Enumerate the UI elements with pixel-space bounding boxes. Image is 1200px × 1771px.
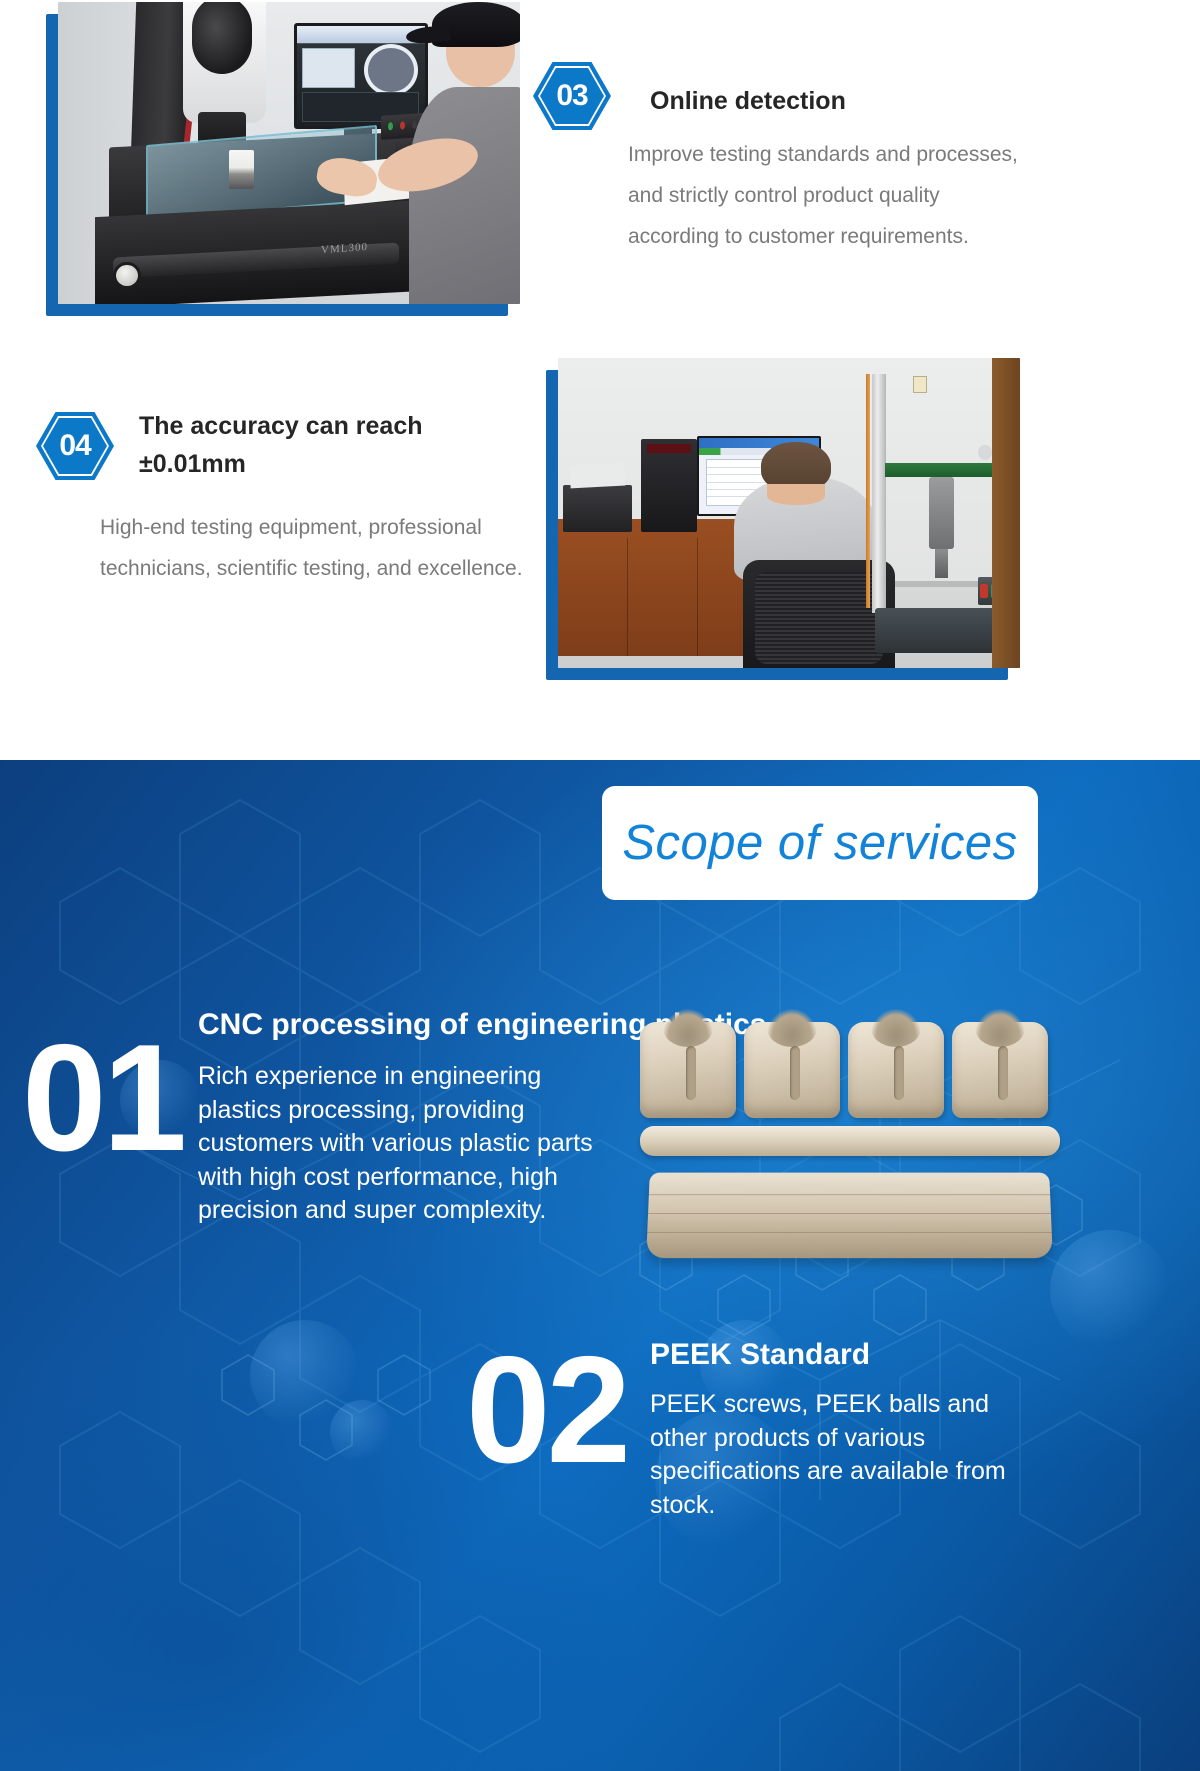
service-heading-02: PEEK Standard: [650, 1338, 1080, 1372]
door: [992, 358, 1020, 668]
peek-chain-link-photo: [640, 1022, 1060, 1272]
online-detection-body: Improve testing standards and processes,…: [628, 135, 1028, 258]
badge-number: 03: [533, 62, 611, 130]
service-number-02: 02: [466, 1334, 627, 1486]
scope-title-card: Scope of services: [602, 786, 1038, 900]
service-body-01: Rich experience in engineering plastics …: [198, 1060, 628, 1228]
measured-part: [229, 150, 254, 189]
features-section: VML300 03 Online detection Improve testi…: [0, 0, 1200, 760]
accuracy-photo: [546, 370, 1008, 680]
online-detection-photo: VML300: [46, 14, 508, 316]
accuracy-heading: The accuracy can reach ±0.01mm: [139, 408, 519, 483]
tensile-lab-scene: [558, 358, 1020, 668]
accuracy-body: High-end testing equipment, professional…: [100, 508, 530, 590]
photo-image: VML300: [58, 2, 520, 304]
online-detection-heading: Online detection: [650, 83, 1120, 121]
badge-03: 03: [533, 62, 611, 130]
badge-number: 04: [36, 412, 114, 480]
photo-image: [558, 358, 1020, 668]
measuring-machine-scene: VML300: [58, 2, 520, 304]
scope-title: Scope of services: [622, 815, 1017, 871]
service-number-01: 01: [22, 1022, 183, 1174]
badge-04: 04: [36, 412, 114, 480]
scope-of-services-section: Scope of services 01 CNC processing of e…: [0, 760, 1200, 1771]
service-body-02: PEEK screws, PEEK balls and other produc…: [650, 1388, 1040, 1522]
operator-cap: [432, 2, 520, 47]
